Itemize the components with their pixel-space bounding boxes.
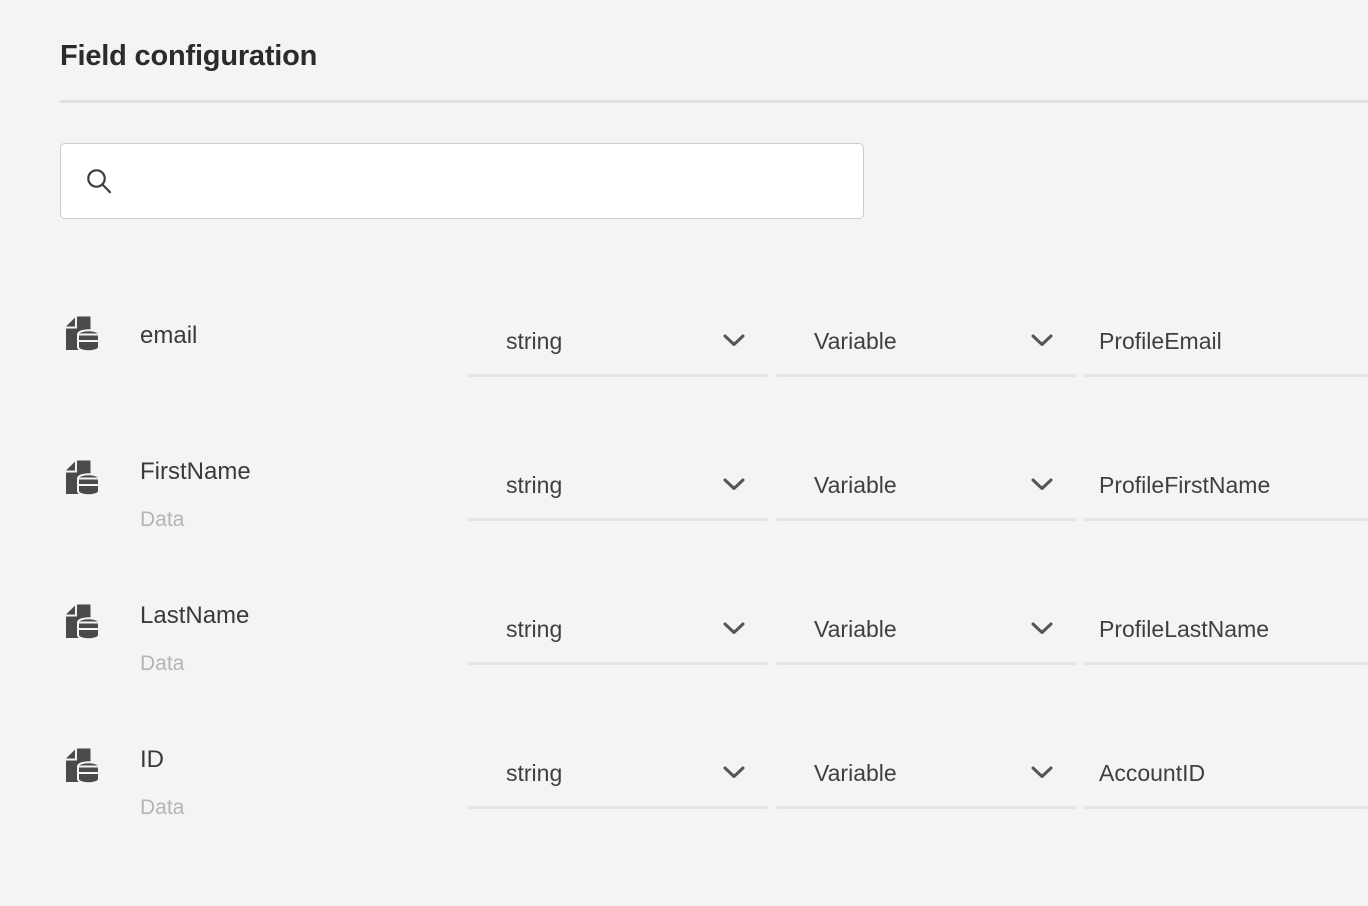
field-label-block: email	[140, 266, 450, 410]
search-input[interactable]	[125, 144, 849, 218]
document-database-icon	[64, 604, 100, 646]
chevron-down-icon	[1031, 766, 1053, 779]
field-type-select[interactable]: string	[468, 266, 768, 410]
chevron-down-icon	[723, 622, 745, 635]
field-binding-select[interactable]: Variable	[776, 410, 1076, 554]
field-type-value: string	[506, 326, 562, 356]
field-binding-underline	[776, 374, 1076, 377]
document-database-icon	[64, 748, 100, 790]
field-type-underline	[468, 518, 768, 521]
table-row[interactable]: FirstName Data string Variable	[0, 410, 1368, 554]
field-label-block: ID Data	[140, 698, 450, 842]
field-binding-value: Variable	[814, 470, 897, 500]
chevron-down-icon	[1031, 478, 1053, 491]
field-value-field[interactable]: AccountID	[1084, 698, 1368, 842]
field-source: Data	[140, 507, 184, 533]
field-type-value: string	[506, 470, 562, 500]
field-value-underline	[1084, 662, 1368, 665]
field-name: email	[140, 321, 197, 351]
table-row[interactable]: LastName Data string Variable	[0, 554, 1368, 698]
document-database-icon	[64, 316, 100, 358]
field-type-select[interactable]: string	[468, 554, 768, 698]
chevron-down-icon	[723, 478, 745, 491]
field-list: email string Variable	[0, 266, 1368, 842]
field-binding-value: Variable	[814, 614, 897, 644]
field-name: ID	[140, 745, 164, 775]
field-name: LastName	[140, 601, 249, 631]
field-source: Data	[140, 651, 184, 677]
field-type-underline	[468, 806, 768, 809]
field-value-field[interactable]: ProfileEmail	[1084, 266, 1368, 410]
field-source: Data	[140, 795, 184, 821]
field-binding-underline	[776, 518, 1076, 521]
table-row[interactable]: email string Variable	[0, 266, 1368, 410]
field-value-field[interactable]: ProfileLastName	[1084, 554, 1368, 698]
field-binding-select[interactable]: Variable	[776, 554, 1076, 698]
page-header: Field configuration	[0, 0, 1368, 103]
table-row[interactable]: ID Data string Variable	[0, 698, 1368, 842]
field-binding-select[interactable]: Variable	[776, 266, 1076, 410]
page-title: Field configuration	[60, 36, 317, 76]
field-value-underline	[1084, 374, 1368, 377]
field-type-value: string	[506, 758, 562, 788]
field-type-underline	[468, 662, 768, 665]
field-name: FirstName	[140, 457, 251, 487]
field-value: AccountID	[1099, 758, 1205, 788]
field-type-value: string	[506, 614, 562, 644]
field-binding-select[interactable]: Variable	[776, 698, 1076, 842]
field-value-underline	[1084, 806, 1368, 809]
field-value-field[interactable]: ProfileFirstName	[1084, 410, 1368, 554]
field-value: ProfileLastName	[1099, 614, 1269, 644]
chevron-down-icon	[1031, 334, 1053, 347]
field-configuration-page: Field configuration	[0, 0, 1368, 906]
field-binding-underline	[776, 662, 1076, 665]
field-binding-underline	[776, 806, 1076, 809]
field-type-select[interactable]: string	[468, 698, 768, 842]
field-label-block: FirstName Data	[140, 410, 450, 554]
document-database-icon	[64, 460, 100, 502]
field-value: ProfileEmail	[1099, 326, 1222, 356]
field-label-block: LastName Data	[140, 554, 450, 698]
field-value-underline	[1084, 518, 1368, 521]
field-value: ProfileFirstName	[1099, 470, 1270, 500]
field-binding-value: Variable	[814, 326, 897, 356]
field-binding-value: Variable	[814, 758, 897, 788]
header-divider	[60, 100, 1368, 103]
chevron-down-icon	[723, 334, 745, 347]
chevron-down-icon	[1031, 622, 1053, 635]
search-box[interactable]	[60, 143, 864, 219]
search-icon	[85, 167, 113, 195]
chevron-down-icon	[723, 766, 745, 779]
field-type-underline	[468, 374, 768, 377]
field-type-select[interactable]: string	[468, 410, 768, 554]
